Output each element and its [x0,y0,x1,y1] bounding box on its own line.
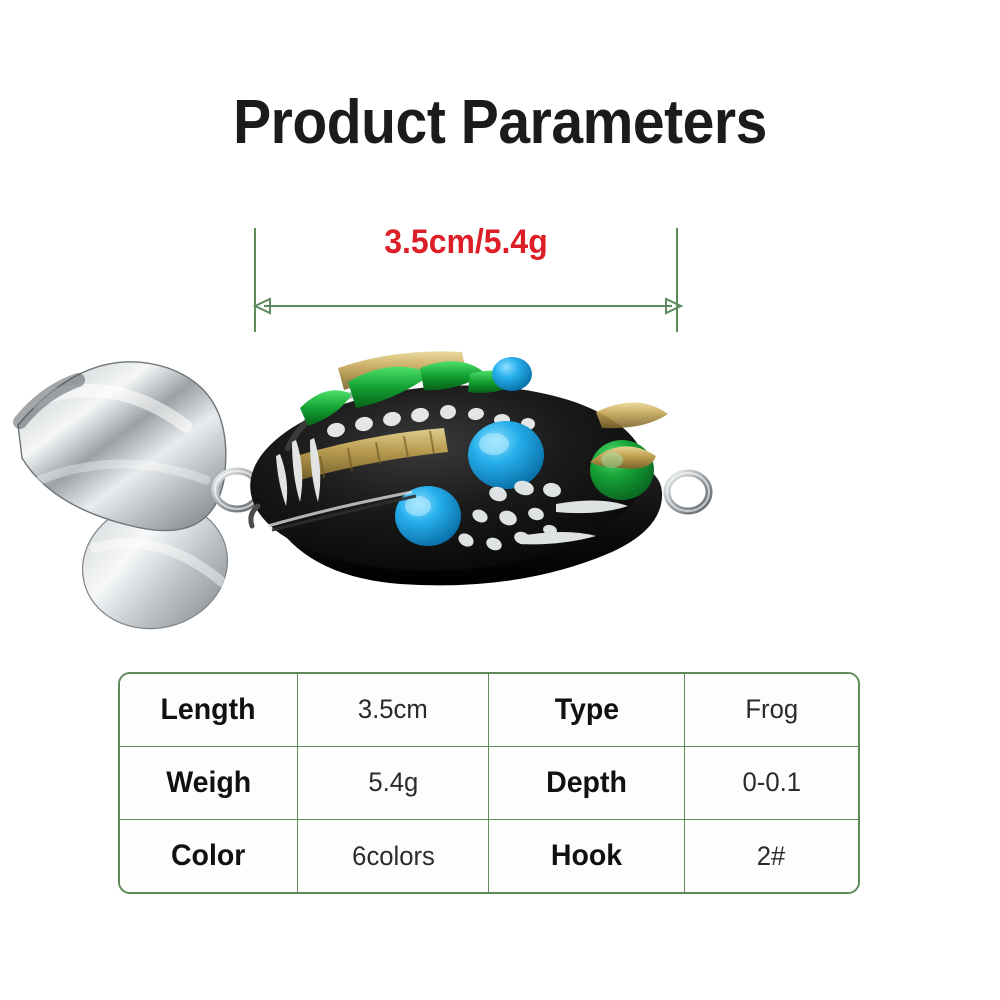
spec-label: Color [171,839,245,873]
lure-body [245,351,668,585]
spec-value-cell: 3.5cm [297,674,489,746]
spec-label-cell: Weigh [120,746,297,819]
table-row: Length 3.5cm Type Frog [120,674,858,746]
table-row: Weigh 5.4g Depth 0-0.1 [120,746,858,819]
spec-label-cell: Type [489,674,684,746]
spec-value: 0-0.1 [742,767,800,798]
dimension-extension-line-left [254,228,256,332]
spec-label-cell: Hook [489,820,684,892]
spec-value-cell: Frog [684,674,858,746]
spec-label: Length [161,693,256,727]
spec-label: Hook [551,839,622,873]
spec-label-cell: Depth [489,746,684,819]
spec-value-cell: 6colors [297,820,489,892]
page-title: Product Parameters [40,92,960,154]
dimension-extension-line-right [676,228,678,332]
spec-label: Weigh [166,766,251,800]
double-headed-arrow-icon [250,296,686,316]
spec-value: 6colors [352,841,435,872]
spec-label: Depth [546,766,627,800]
spec-value: Frog [745,694,798,725]
table-row: Color 6colors Hook 2# [120,820,858,892]
spec-label-cell: Color [120,820,297,892]
spec-value: 2# [757,841,786,872]
spec-value-cell: 0-0.1 [684,746,858,819]
spec-label: Type [554,693,618,727]
spec-value: 5.4g [368,767,418,798]
split-ring-right-icon [667,473,709,511]
spec-label-cell: Length [120,674,297,746]
spec-value-cell: 2# [684,820,858,892]
product-image-frog-lure [0,330,760,630]
spinner-blade-upper-icon [18,362,226,531]
spec-value-cell: 5.4g [297,746,489,819]
dimension-label: 3.5cm/5.4g [267,224,666,261]
spec-value: 3.5cm [358,694,428,725]
spec-table: Length 3.5cm Type Frog Weigh 5.4g [118,672,860,894]
